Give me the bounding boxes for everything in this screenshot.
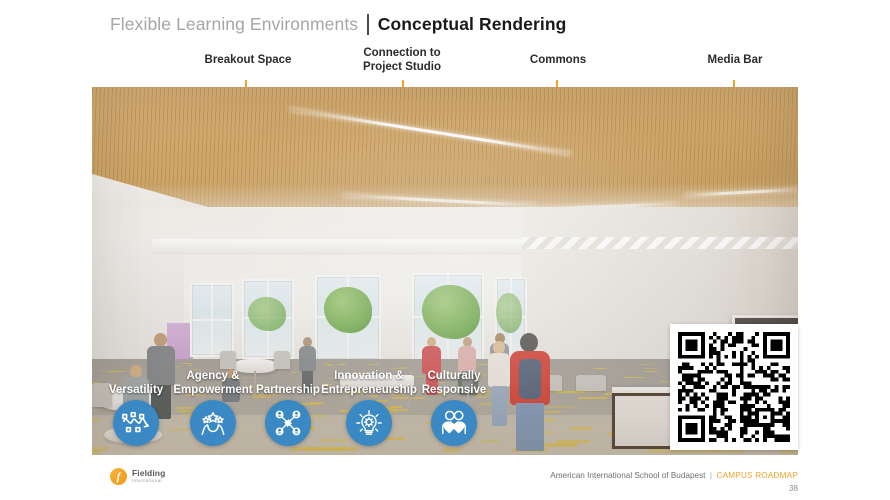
qr-code-panel[interactable] bbox=[670, 324, 798, 450]
fielding-logo-mark: f bbox=[110, 468, 127, 485]
carpet-dash bbox=[779, 450, 798, 454]
carpet-dash bbox=[555, 440, 591, 443]
carpet-dash bbox=[547, 406, 574, 408]
footer-separator: | bbox=[710, 471, 712, 480]
carpet-dash bbox=[570, 427, 594, 430]
carpet-dash bbox=[475, 396, 487, 398]
chair bbox=[274, 351, 290, 369]
title-divider bbox=[367, 14, 369, 35]
chair bbox=[220, 351, 236, 369]
carpet-dash bbox=[252, 396, 272, 398]
table-leg bbox=[346, 385, 348, 409]
carpet-dash bbox=[326, 378, 337, 379]
callout-label: Media Bar bbox=[708, 54, 763, 68]
carpet-dash bbox=[480, 440, 502, 443]
footer-credits: American International School of Budapes… bbox=[550, 468, 798, 495]
tree-foliage bbox=[496, 293, 522, 333]
carpet-dash bbox=[543, 411, 562, 413]
carpet-dash bbox=[370, 395, 379, 397]
chair bbox=[576, 375, 606, 391]
chair-leg bbox=[467, 393, 469, 409]
carpet-dash bbox=[276, 388, 283, 389]
footer-school: American International School of Budapes… bbox=[550, 471, 705, 480]
carpet-dash bbox=[368, 429, 387, 432]
carpet-dash bbox=[398, 367, 411, 368]
carpet-dash bbox=[426, 421, 449, 424]
callout-label: Breakout Space bbox=[205, 54, 292, 68]
fielding-logo-name: Fielding bbox=[132, 469, 165, 478]
tree-foliage bbox=[248, 297, 286, 331]
carpet-dash bbox=[389, 406, 403, 408]
carpet-dash bbox=[284, 415, 327, 417]
carpet-dash bbox=[389, 394, 407, 396]
work-table bbox=[340, 375, 414, 387]
footer-roadmap: CAMPUS ROADMAP bbox=[716, 471, 798, 480]
carpet-dash bbox=[253, 394, 282, 396]
carpet-dash bbox=[175, 366, 181, 367]
page-title: Flexible Learning Environments Conceptua… bbox=[110, 14, 566, 35]
carpet-dash bbox=[369, 437, 405, 440]
carpet-dash bbox=[478, 364, 489, 365]
carpet-dash bbox=[419, 376, 425, 377]
tree-foliage bbox=[324, 287, 372, 333]
table-leg bbox=[254, 371, 256, 393]
carpet-dash bbox=[431, 414, 477, 416]
title-main: Conceptual Rendering bbox=[378, 14, 567, 35]
page-number: 38 bbox=[550, 483, 798, 495]
carpet-dash bbox=[272, 427, 317, 430]
window bbox=[190, 283, 234, 357]
table-leg bbox=[408, 385, 410, 409]
carpet-dash bbox=[184, 394, 205, 396]
title-eyebrow: Flexible Learning Environments bbox=[110, 14, 358, 35]
callout-label: Connection toProject Studio bbox=[363, 47, 441, 74]
carpet-dash bbox=[92, 418, 100, 421]
carpet-dash bbox=[375, 400, 388, 402]
carpet-dash bbox=[108, 371, 125, 372]
fielding-logo-sub: International bbox=[132, 479, 165, 483]
carpet-dash bbox=[290, 447, 359, 451]
slide: Flexible Learning Environments Conceptua… bbox=[0, 0, 890, 500]
carpet-dash bbox=[643, 368, 658, 369]
partition-sawtooth-edge bbox=[522, 237, 798, 249]
fielding-logo: f Fielding International bbox=[110, 468, 165, 485]
carpet-dash bbox=[242, 377, 260, 378]
qr-code[interactable] bbox=[678, 332, 790, 442]
carpet-dash bbox=[357, 411, 398, 413]
chair bbox=[92, 383, 112, 407]
carpet-dash bbox=[645, 371, 657, 372]
carpet-dash bbox=[284, 403, 319, 405]
carpet-dash bbox=[324, 384, 332, 385]
carpet-dash bbox=[639, 364, 653, 365]
carpet-dash bbox=[291, 372, 296, 373]
carpet-dash bbox=[175, 407, 208, 409]
carpet-dash bbox=[578, 397, 609, 399]
carpet-dash bbox=[441, 448, 462, 452]
carpet-dash bbox=[170, 428, 193, 431]
tree-foliage bbox=[422, 285, 480, 339]
callout-label: Commons bbox=[530, 54, 586, 68]
carpet-dash bbox=[328, 365, 334, 366]
